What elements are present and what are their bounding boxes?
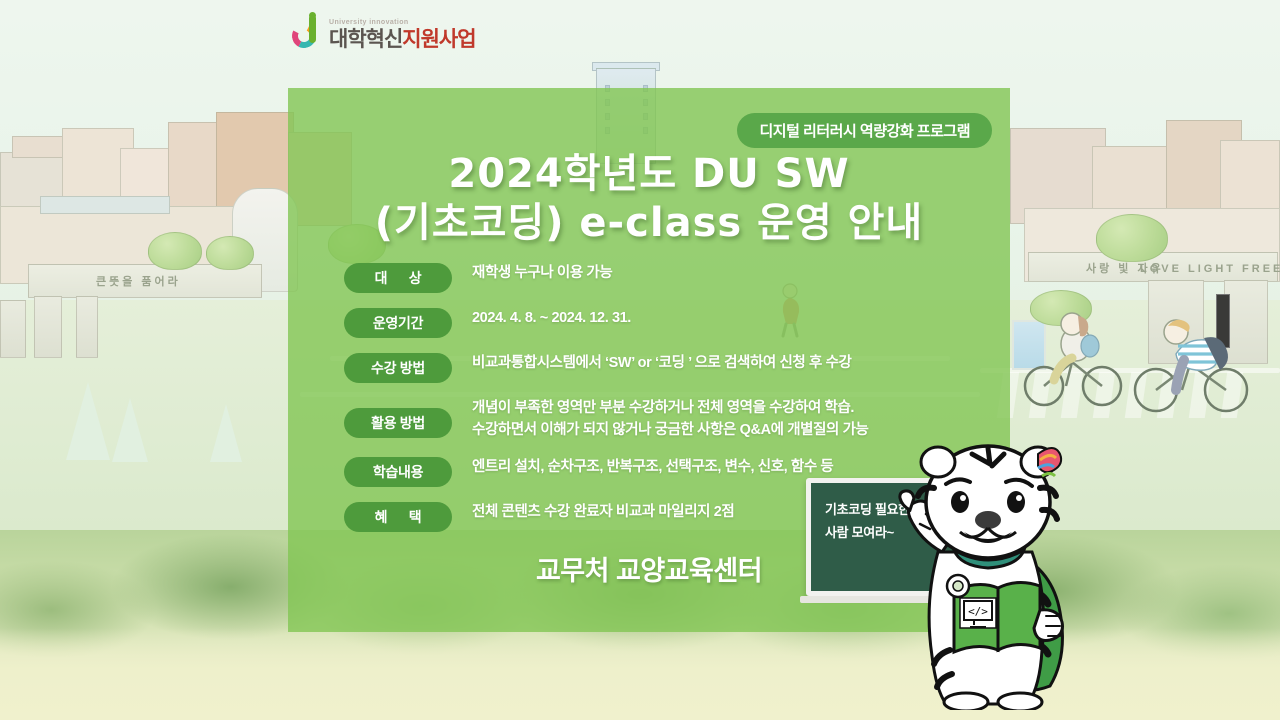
- page-title: 2024학년도 DU SW (기초코딩) e-class 운영 안내: [288, 150, 1010, 248]
- info-row: 활용 방법 개념이 부족한 영역만 부분 수강하거나 전체 영역을 수강하여 학…: [344, 397, 972, 442]
- info-row-value: 2024. 4. 8. ~ 2024. 12. 31.: [472, 307, 972, 329]
- info-row-label: 학습내용: [344, 457, 452, 487]
- svg-text:</>: </>: [968, 605, 988, 618]
- logo-korean-secondary: 지원사업: [402, 28, 475, 51]
- info-row: 수강 방법 비교과통합시스템에서 ‘SW’ or ‘코딩 ’ 으로 검색하여 신…: [344, 352, 972, 383]
- gate-pillar: [34, 296, 62, 358]
- info-row-label: 수강 방법: [344, 353, 452, 383]
- info-row-label: 운영기간: [344, 308, 452, 338]
- gate-pillar: [0, 300, 26, 358]
- info-row-value: 개념이 부족한 영역만 부분 수강하거나 전체 영역을 수강하여 학습. 수강하…: [472, 397, 972, 442]
- uj-logo-mark-icon: [292, 16, 322, 50]
- logo-korean-text: 대학혁신지원사업: [329, 29, 476, 50]
- logo-english-text: University innovation: [329, 19, 476, 26]
- info-row-label: 혜 택: [344, 502, 452, 532]
- logo-text-block: University innovation 대학혁신지원사업: [329, 19, 476, 50]
- info-row-value: 재학생 누구나 이용 가능: [472, 262, 972, 284]
- program-badge: 디지털 리터러시 역량강화 프로그램: [737, 113, 992, 148]
- campus-building: [40, 196, 170, 214]
- gate-pillar: [76, 296, 98, 358]
- left-gate-sign-text: 큰뜻을 품어라: [96, 273, 181, 289]
- tiger-mascot: </>: [880, 440, 1110, 710]
- title-line-1: 2024학년도 DU SW: [448, 151, 849, 197]
- cyclist-right-female: [1020, 300, 1130, 410]
- info-row: 운영기간 2024. 4. 8. ~ 2024. 12. 31.: [344, 307, 972, 338]
- info-row-value: 비교과통합시스템에서 ‘SW’ or ‘코딩 ’ 으로 검색하여 신청 후 수강: [472, 352, 972, 374]
- logo-korean-primary: 대학혁신: [329, 28, 402, 51]
- info-row: 대 상 재학생 누구나 이용 가능: [344, 262, 972, 293]
- poster-root: 큰뜻을 품어라 사랑 빛 자유 LOVE LIGHT FREEDOM: [0, 0, 1280, 720]
- title-line-2: (기초코딩) e-class 운영 안내: [288, 199, 1010, 248]
- right-gate-sign-english: LOVE LIGHT FREEDOM: [1140, 263, 1280, 275]
- cyclist-right-male: [1130, 298, 1260, 418]
- university-innovation-logo: University innovation 대학혁신지원사업: [292, 16, 476, 50]
- info-row-label: 활용 방법: [344, 408, 452, 438]
- info-row-label: 대 상: [344, 263, 452, 293]
